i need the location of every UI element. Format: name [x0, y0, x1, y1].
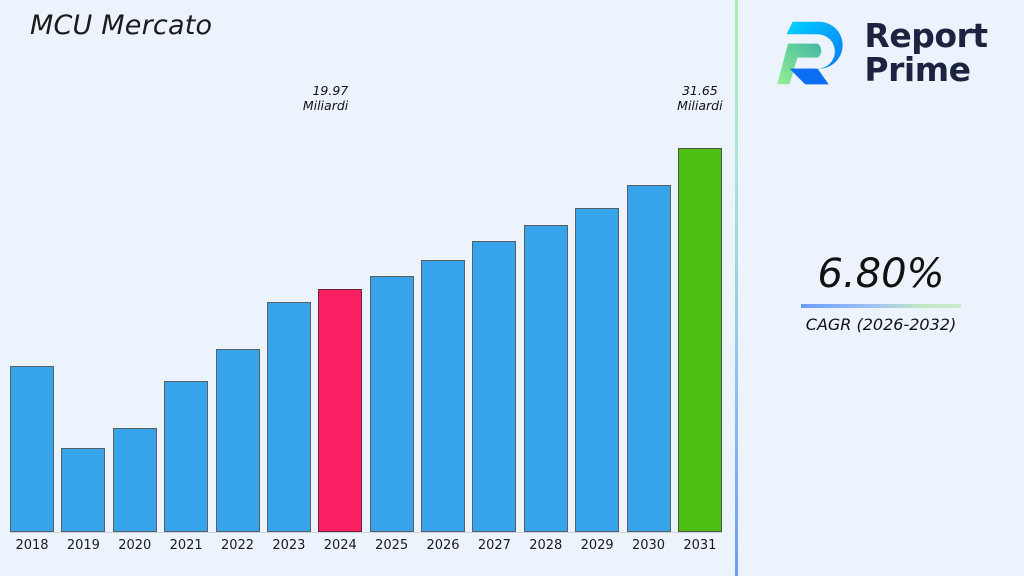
bar-annotation-unit: Miliardi [677, 98, 722, 114]
bar-2024[interactable] [318, 289, 362, 532]
x-axis-labels: 2018201920202021202220232024202520262027… [10, 538, 722, 553]
brand-name: Report Prime [864, 19, 987, 86]
brand-name-line1: Report [864, 19, 987, 53]
x-label-2028: 2028 [524, 538, 568, 553]
bar-2030[interactable] [627, 185, 671, 532]
brand-name-line2: Prime [864, 53, 987, 87]
bar-slot [575, 120, 619, 532]
bar-2020[interactable] [113, 428, 157, 533]
bar-slot [472, 120, 516, 532]
x-label-2020: 2020 [113, 538, 157, 553]
bar-slot [164, 120, 208, 532]
x-label-2030: 2030 [627, 538, 671, 553]
bar-2023[interactable] [267, 302, 311, 532]
x-label-2024: 2024 [318, 538, 362, 553]
slide-canvas: MCU Mercato 19.97Miliardi31.65Miliardi 2… [0, 0, 1024, 576]
side-panel: Report Prime 6.80% CAGR (2026-2032) [738, 0, 1024, 576]
bar-annotation: 31.65Miliardi [677, 83, 722, 114]
cagr-label: CAGR (2026-2032) [738, 315, 1024, 334]
bar-series: 19.97Miliardi31.65Miliardi [10, 120, 722, 532]
x-label-2022: 2022 [216, 538, 260, 553]
x-label-2029: 2029 [575, 538, 619, 553]
cagr-value: 6.80% [738, 252, 1024, 296]
bar-2029[interactable] [575, 208, 619, 532]
bar-2022[interactable] [216, 349, 260, 532]
x-label-2026: 2026 [421, 538, 465, 553]
x-label-2031: 2031 [678, 538, 722, 553]
bar-slot [627, 120, 671, 532]
bar-annotation-value: 19.97 [303, 83, 348, 99]
bar-2027[interactable] [472, 241, 516, 533]
bar-2031[interactable] [678, 148, 722, 533]
cagr-block: 6.80% CAGR (2026-2032) [738, 252, 1024, 334]
report-prime-logo-icon [774, 14, 852, 92]
bar-annotation-unit: Miliardi [303, 98, 348, 114]
bar-slot [113, 120, 157, 532]
bar-slot [216, 120, 260, 532]
chart-panel: MCU Mercato 19.97Miliardi31.65Miliardi 2… [0, 0, 736, 576]
x-label-2025: 2025 [370, 538, 414, 553]
bar-slot: 31.65Miliardi [678, 120, 722, 532]
bar-2026[interactable] [421, 260, 465, 532]
x-label-2027: 2027 [472, 538, 516, 553]
x-label-2019: 2019 [61, 538, 105, 553]
x-label-2018: 2018 [10, 538, 54, 553]
bar-slot [10, 120, 54, 532]
bar-2025[interactable] [370, 276, 414, 532]
x-axis-line [10, 532, 722, 533]
chart-title: MCU Mercato [30, 10, 212, 41]
cagr-divider [801, 304, 961, 308]
bar-annotation: 19.97Miliardi [303, 83, 348, 114]
bar-annotation-value: 31.65 [677, 83, 722, 99]
bar-2028[interactable] [524, 225, 568, 532]
plot-area: 19.97Miliardi31.65Miliardi [0, 120, 736, 533]
bar-2021[interactable] [164, 381, 208, 532]
bar-slot [421, 120, 465, 532]
bar-2019[interactable] [61, 448, 105, 532]
x-label-2021: 2021 [164, 538, 208, 553]
brand-logo: Report Prime [738, 14, 1024, 92]
bar-2018[interactable] [10, 366, 54, 532]
bar-slot [61, 120, 105, 532]
bar-slot [267, 120, 311, 532]
bar-slot [370, 120, 414, 532]
bar-slot: 19.97Miliardi [318, 120, 362, 532]
x-label-2023: 2023 [267, 538, 311, 553]
bar-slot [524, 120, 568, 532]
